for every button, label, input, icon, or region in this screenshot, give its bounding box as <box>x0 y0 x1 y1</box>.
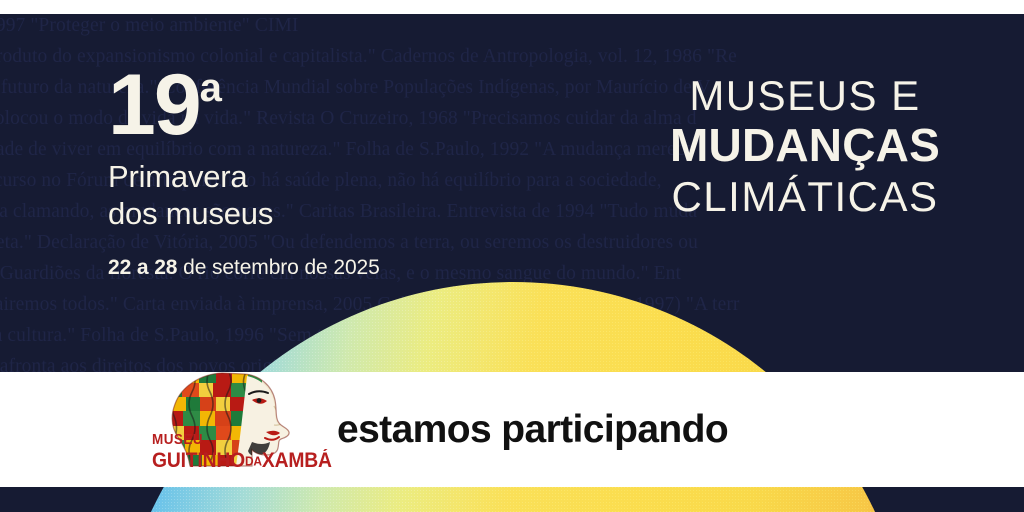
logo-name-xamba: XAMBÁ <box>262 449 332 472</box>
museum-logo-wordmark: MUSEU GUITINHODAXAMBÁ <box>152 432 347 471</box>
bg-quote-line: cairemos todos." Carta enviada à imprens… <box>0 289 1024 320</box>
edition-headline-block: 19 a Primavera dos museus 22 a 28 de set… <box>108 66 380 280</box>
theme-line-2: MUDANÇAS <box>640 121 970 171</box>
logo-name-da: DA <box>245 453 262 468</box>
bg-quote-line: sa cultura." Folha de S.Paulo, 1996 "Sem… <box>0 320 1024 351</box>
logo-name-line: GUITINHODAXAMBÁ <box>152 450 332 471</box>
top-white-strip <box>0 0 1024 14</box>
participation-message: estamos participando <box>337 408 728 452</box>
theme-line-1: MUSEUS E <box>640 72 970 119</box>
event-dates-rest: de setembro de 2025 <box>177 256 379 279</box>
logo-name-guitinho: GUITINHO <box>152 449 245 472</box>
event-title-line2: dos museus <box>108 196 380 233</box>
event-dates-range: 22 a 28 <box>108 256 177 279</box>
logo-museu-word: MUSEU <box>152 432 328 447</box>
edition-number: 19 <box>108 66 200 145</box>
bg-quote-line: 1997 "Proteger o meio ambiente" CIMI <box>0 14 1024 41</box>
event-dates: 22 a 28 de setembro de 2025 <box>108 256 380 280</box>
event-title-line1: Primavera <box>108 159 380 196</box>
edition-number-group: 19 a <box>108 66 380 145</box>
theme-line-3: CLIMÁTICAS <box>640 173 970 220</box>
theme-title-block: MUSEUS E MUDANÇAS CLIMÁTICAS <box>640 72 970 220</box>
museum-logo[interactable]: MUSEU GUITINHODAXAMBÁ <box>148 372 323 487</box>
edition-ordinal-suffix: a <box>200 68 221 108</box>
event-title: Primavera dos museus <box>108 159 380 232</box>
participation-banner: MUSEU GUITINHODAXAMBÁ estamos participan… <box>0 372 1024 487</box>
poster-canvas: 1997 "Proteger o meio ambiente" CIMI pro… <box>0 0 1024 512</box>
